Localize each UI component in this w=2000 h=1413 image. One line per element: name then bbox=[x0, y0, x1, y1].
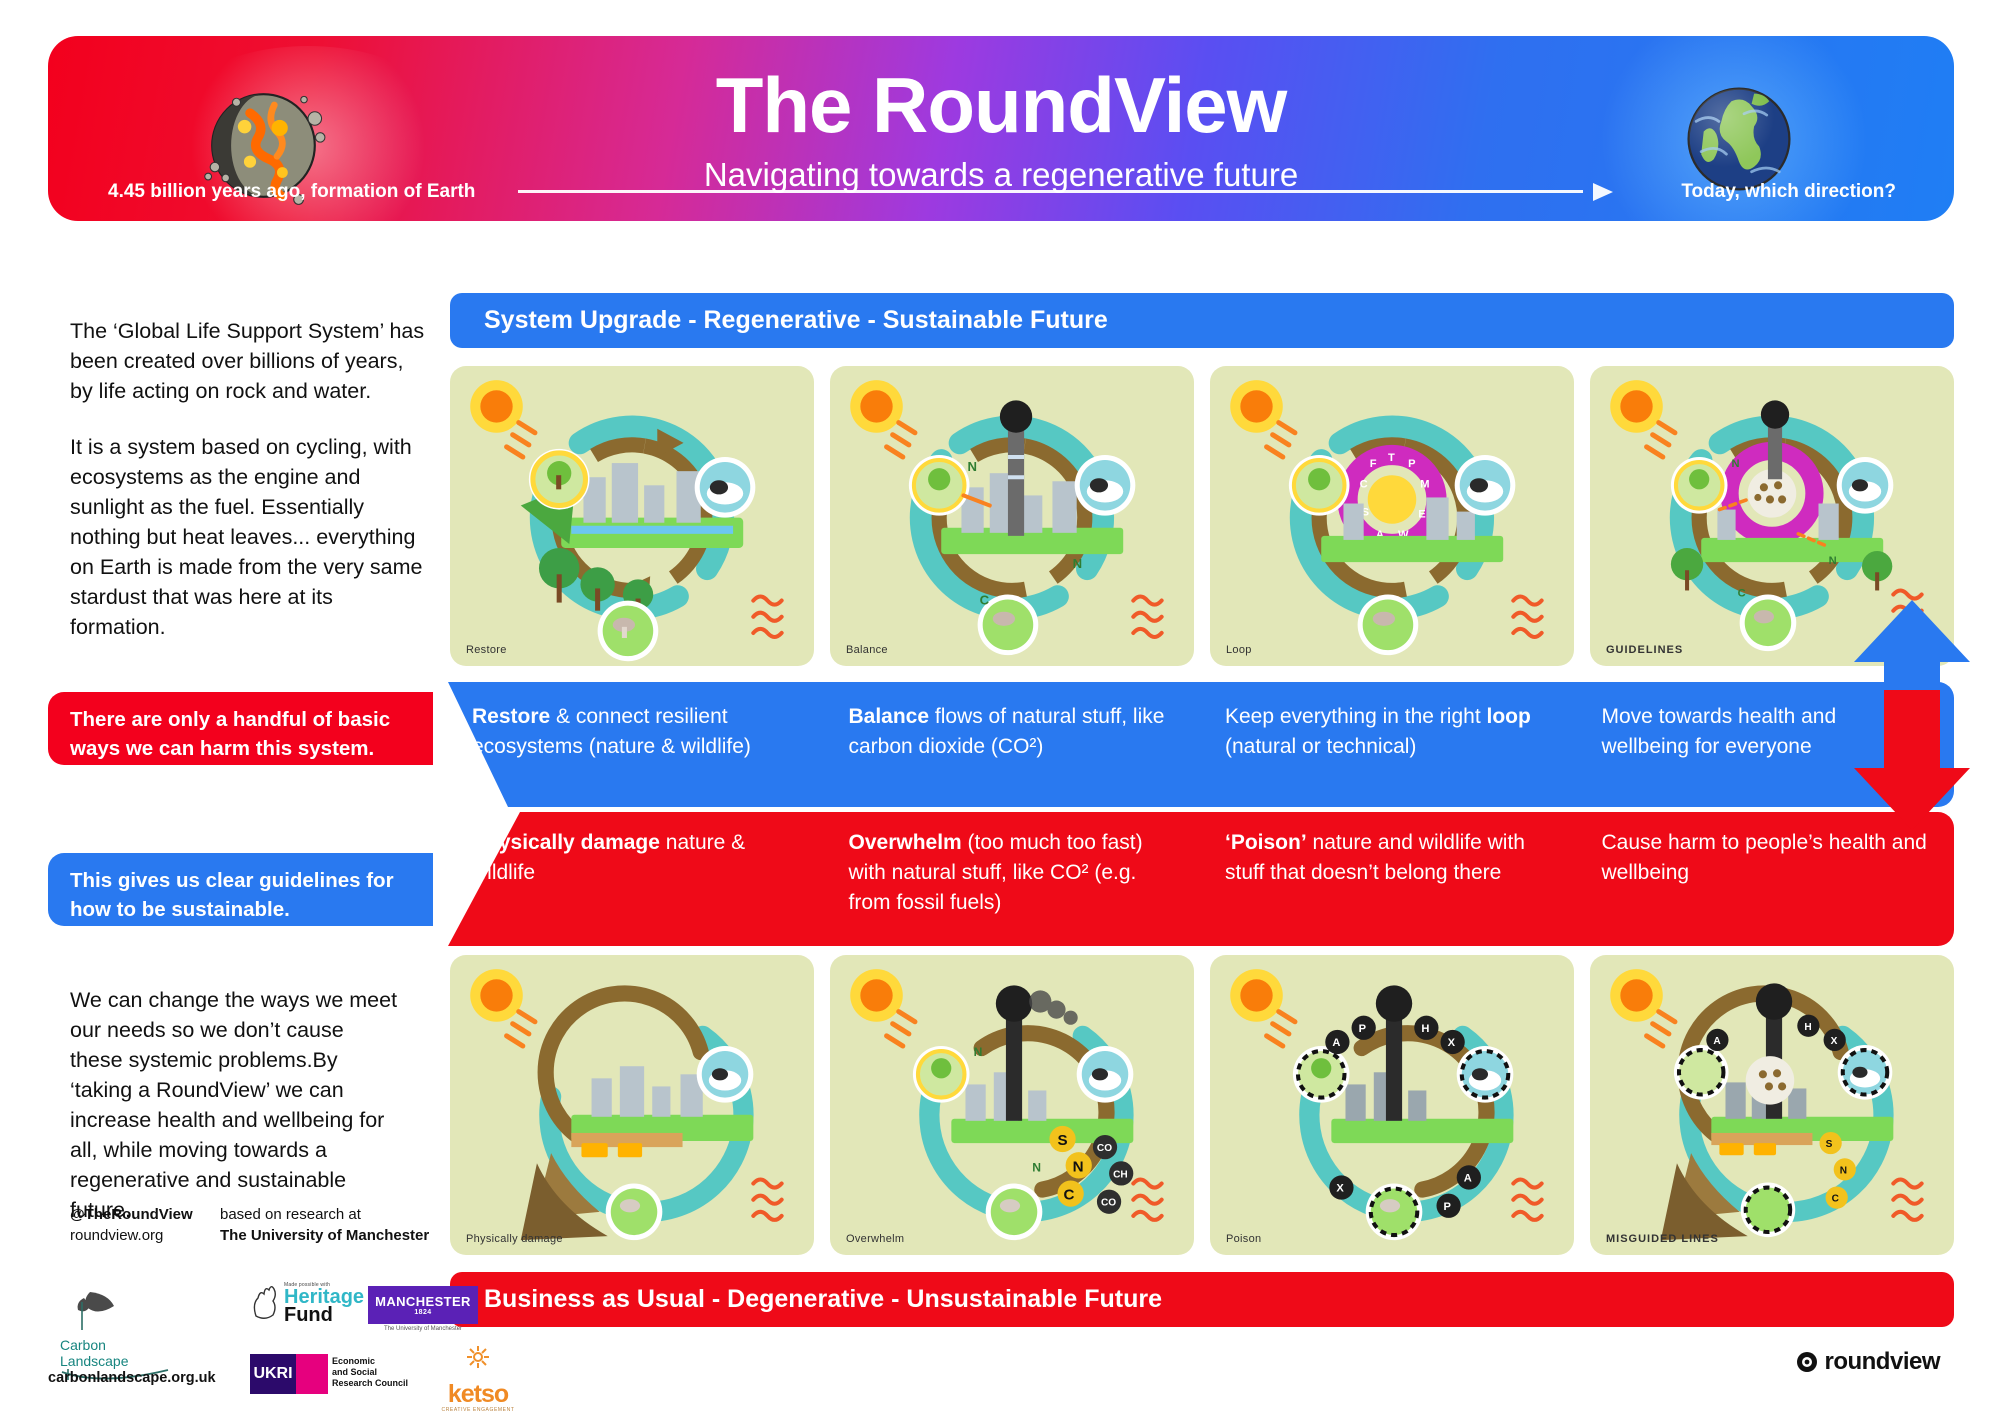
svg-text:C: C bbox=[1360, 478, 1368, 490]
card-label: Balance bbox=[846, 644, 888, 656]
red-band-cell-overwhelm: Overwhelm (too much too fast) with natur… bbox=[825, 812, 1202, 946]
svg-text:X: X bbox=[1831, 1036, 1838, 1047]
heritage-fund-logo[interactable]: Made possible with Heritage Fund bbox=[250, 1282, 364, 1325]
svg-text:F: F bbox=[1370, 458, 1377, 470]
reed-plant-icon bbox=[60, 1288, 130, 1332]
esrc-block bbox=[296, 1354, 328, 1394]
loop-cycle-illustration: FTP MEW ASC bbox=[1210, 366, 1574, 666]
esrc-logo[interactable]: Economic and Social Research Council bbox=[332, 1356, 408, 1389]
red-band-cell-damage: Physically damage nature & wildlife bbox=[448, 812, 825, 946]
svg-text:A: A bbox=[1464, 1172, 1472, 1184]
callout-guidelines: This gives us clear guidelines for how t… bbox=[48, 853, 433, 926]
red-band-cell-health: Cause harm to people’s health and wellbe… bbox=[1578, 812, 1955, 946]
heritage-line2: Fund bbox=[284, 1306, 364, 1325]
ketso-wordmark: ketso bbox=[438, 1381, 518, 1407]
card-label: Loop bbox=[1226, 644, 1252, 656]
svg-text:N: N bbox=[1073, 1158, 1084, 1175]
svg-text:N: N bbox=[1032, 1160, 1041, 1174]
ketso-logo[interactable]: ketso CREATIVE ENGAGEMENT bbox=[438, 1342, 518, 1413]
physically-damage-illustration bbox=[450, 955, 814, 1255]
card-label: Restore bbox=[466, 644, 507, 656]
svg-text:C: C bbox=[1738, 588, 1746, 600]
svg-text:A: A bbox=[1332, 1037, 1340, 1049]
svg-text:N: N bbox=[1840, 1165, 1847, 1176]
website-url[interactable]: roundview.org bbox=[70, 1225, 193, 1246]
blue-band-cell-restore: Restore & connect resilient ecosystems (… bbox=[448, 682, 825, 807]
poster-title: The RoundView bbox=[48, 66, 1954, 144]
card-loop[interactable]: FTP MEW ASC Loop bbox=[1210, 366, 1574, 666]
institution-name: The University of Manchester bbox=[220, 1225, 429, 1246]
card-poison[interactable]: A P H X A P X Poison bbox=[1210, 955, 1574, 1255]
svg-text:X: X bbox=[1448, 1037, 1456, 1049]
manchester-year: 1824 bbox=[375, 1309, 471, 1316]
svg-text:E: E bbox=[1418, 509, 1425, 521]
svg-text:N: N bbox=[1732, 458, 1740, 470]
ukri-logo[interactable]: UKRI bbox=[250, 1354, 296, 1394]
card-label: Overwhelm bbox=[846, 1233, 904, 1245]
blue-band-pre-2: Keep everything in the right bbox=[1225, 705, 1487, 728]
svg-text:CO: CO bbox=[1097, 1143, 1112, 1154]
header-left-caption: 4.45 billion years ago, formation of Ear… bbox=[108, 181, 475, 203]
card-physically-damage[interactable]: Physically damage bbox=[450, 955, 814, 1255]
carbon-landscape-logo[interactable]: Carbon Landscape carbonlandscape.org.uk bbox=[60, 1288, 190, 1387]
red-band-bold-1: Overwhelm bbox=[849, 831, 962, 854]
svg-text:N: N bbox=[1829, 555, 1837, 567]
esrc-line1: Economic bbox=[332, 1356, 408, 1367]
svg-text:C: C bbox=[1832, 1194, 1840, 1205]
svg-text:N: N bbox=[974, 1045, 983, 1059]
svg-text:T: T bbox=[1388, 452, 1395, 464]
footer-logos: Carbon Landscape carbonlandscape.org.uk … bbox=[60, 1288, 480, 1398]
carbon-landscape-url[interactable]: carbonlandscape.org.uk bbox=[48, 1370, 216, 1386]
header-right-caption: Today, which direction? bbox=[1681, 181, 1896, 203]
bottom-card-row: Physically damage S bbox=[450, 955, 1954, 1255]
ketso-tagline: CREATIVE ENGAGEMENT bbox=[438, 1407, 518, 1413]
callout-harm: There are only a handful of basic ways w… bbox=[48, 692, 433, 765]
card-label: GUIDELINES bbox=[1606, 644, 1683, 656]
blue-band-rest-2: (natural or technical) bbox=[1225, 735, 1416, 758]
svg-text:CO: CO bbox=[1101, 1198, 1116, 1209]
roundview-wordmark: roundview bbox=[1824, 1348, 1940, 1376]
svg-text:C: C bbox=[980, 593, 990, 608]
poison-illustration: A P H X A P X bbox=[1210, 955, 1574, 1255]
svg-text:P: P bbox=[1408, 458, 1416, 470]
carbon-landscape-line1: Carbon bbox=[60, 1337, 190, 1353]
blue-band-bold-2: loop bbox=[1487, 705, 1531, 728]
intro-paragraph-1: The ‘Global Life Support System’ has bee… bbox=[70, 316, 430, 406]
manchester-subtitle: The University of Manchester bbox=[368, 1326, 478, 1332]
overwhelm-illustration: S N C CO CH CO NN bbox=[830, 955, 1194, 1255]
svg-text:C: C bbox=[1064, 1187, 1075, 1204]
svg-text:X: X bbox=[1336, 1183, 1344, 1195]
intro-text-block: The ‘Global Life Support System’ has bee… bbox=[70, 316, 430, 642]
outro-paragraph: We can change the ways we meet our needs… bbox=[70, 985, 400, 1225]
downward-arrow-icon bbox=[1852, 690, 1972, 830]
red-band-cell-poison: ‘Poison’ nature and wildlife with stuff … bbox=[1201, 812, 1578, 946]
svg-text:CH: CH bbox=[1113, 1169, 1128, 1180]
card-label: Poison bbox=[1226, 1233, 1261, 1245]
card-label: Physically damage bbox=[466, 1233, 563, 1245]
manchester-logo[interactable]: MANCHESTER 1824 bbox=[368, 1286, 478, 1324]
balance-cycle-illustration: NNC bbox=[830, 366, 1194, 666]
blue-band-cell-loop: Keep everything in the right loop (natur… bbox=[1201, 682, 1578, 807]
based-on-label: based on research at bbox=[220, 1204, 429, 1225]
esrc-line3: Research Council bbox=[332, 1378, 408, 1389]
ukri-text: UKRI bbox=[253, 1367, 292, 1381]
red-band-bold-0: Physically damage bbox=[472, 831, 660, 854]
timeline-arrow-icon bbox=[518, 184, 1613, 198]
red-harm-band: Physically damage nature & wildlife Over… bbox=[448, 812, 1954, 946]
social-handle: @TheRoundView bbox=[70, 1204, 193, 1225]
svg-text:P: P bbox=[1359, 1023, 1367, 1035]
top-card-row: Restore NNC bbox=[450, 366, 1954, 666]
card-overwhelm[interactable]: S N C CO CH CO NN Overwhelm bbox=[830, 955, 1194, 1255]
svg-text:H: H bbox=[1421, 1023, 1429, 1035]
card-misguided-lines[interactable]: A H X S N C MISGUIDED LINES bbox=[1590, 955, 1954, 1255]
blue-guideline-band: Restore & connect resilient ecosystems (… bbox=[448, 682, 1954, 807]
svg-text:P: P bbox=[1444, 1201, 1452, 1213]
svg-text:S: S bbox=[1826, 1139, 1833, 1150]
red-band-bold-2: ‘Poison’ bbox=[1225, 831, 1307, 854]
svg-text:N: N bbox=[1073, 556, 1082, 571]
banner-system-upgrade: System Upgrade - Regenerative - Sustaina… bbox=[450, 293, 1954, 348]
svg-text:N: N bbox=[968, 459, 977, 474]
restore-cycle-illustration bbox=[450, 366, 814, 666]
svg-text:M: M bbox=[1420, 478, 1429, 490]
card-balance[interactable]: NNC Balance bbox=[830, 366, 1194, 666]
svg-text:S: S bbox=[1057, 1132, 1067, 1149]
intro-paragraph-2: It is a system based on cycling, with ec… bbox=[70, 432, 430, 642]
outro-text-block: We can change the ways we meet our needs… bbox=[70, 985, 400, 1225]
heritage-hand-icon bbox=[250, 1282, 280, 1322]
roundview-logo[interactable]: roundview bbox=[1796, 1348, 1940, 1376]
svg-text:H: H bbox=[1804, 1022, 1811, 1033]
banner-business-as-usual: Business as Usual - Degenerative - Unsus… bbox=[450, 1272, 1954, 1327]
manchester-name: MANCHESTER bbox=[375, 1294, 471, 1309]
card-label: MISGUIDED LINES bbox=[1606, 1233, 1719, 1245]
svg-text:A: A bbox=[1713, 1036, 1721, 1047]
roundview-mark-icon bbox=[1796, 1351, 1818, 1373]
blue-band-bold-0: Restore bbox=[472, 705, 550, 728]
poster-root: The RoundView Navigating towards a regen… bbox=[0, 0, 2000, 1413]
red-band-rest-3: Cause harm to people’s health and wellbe… bbox=[1602, 831, 1927, 884]
blue-band-bold-1: Balance bbox=[849, 705, 930, 728]
esrc-line2: and Social bbox=[332, 1367, 408, 1378]
card-restore[interactable]: Restore bbox=[450, 366, 814, 666]
poster-header: The RoundView Navigating towards a regen… bbox=[48, 36, 1954, 221]
misguided-lines-illustration: A H X S N C bbox=[1590, 955, 1954, 1255]
blue-band-rest-3: Move towards health and wellbeing for ev… bbox=[1602, 705, 1837, 758]
blue-band-cell-balance: Balance flows of natural stuff, like car… bbox=[825, 682, 1202, 807]
ketso-flower-icon bbox=[456, 1342, 500, 1376]
carbon-landscape-line2: Landscape bbox=[60, 1353, 190, 1369]
